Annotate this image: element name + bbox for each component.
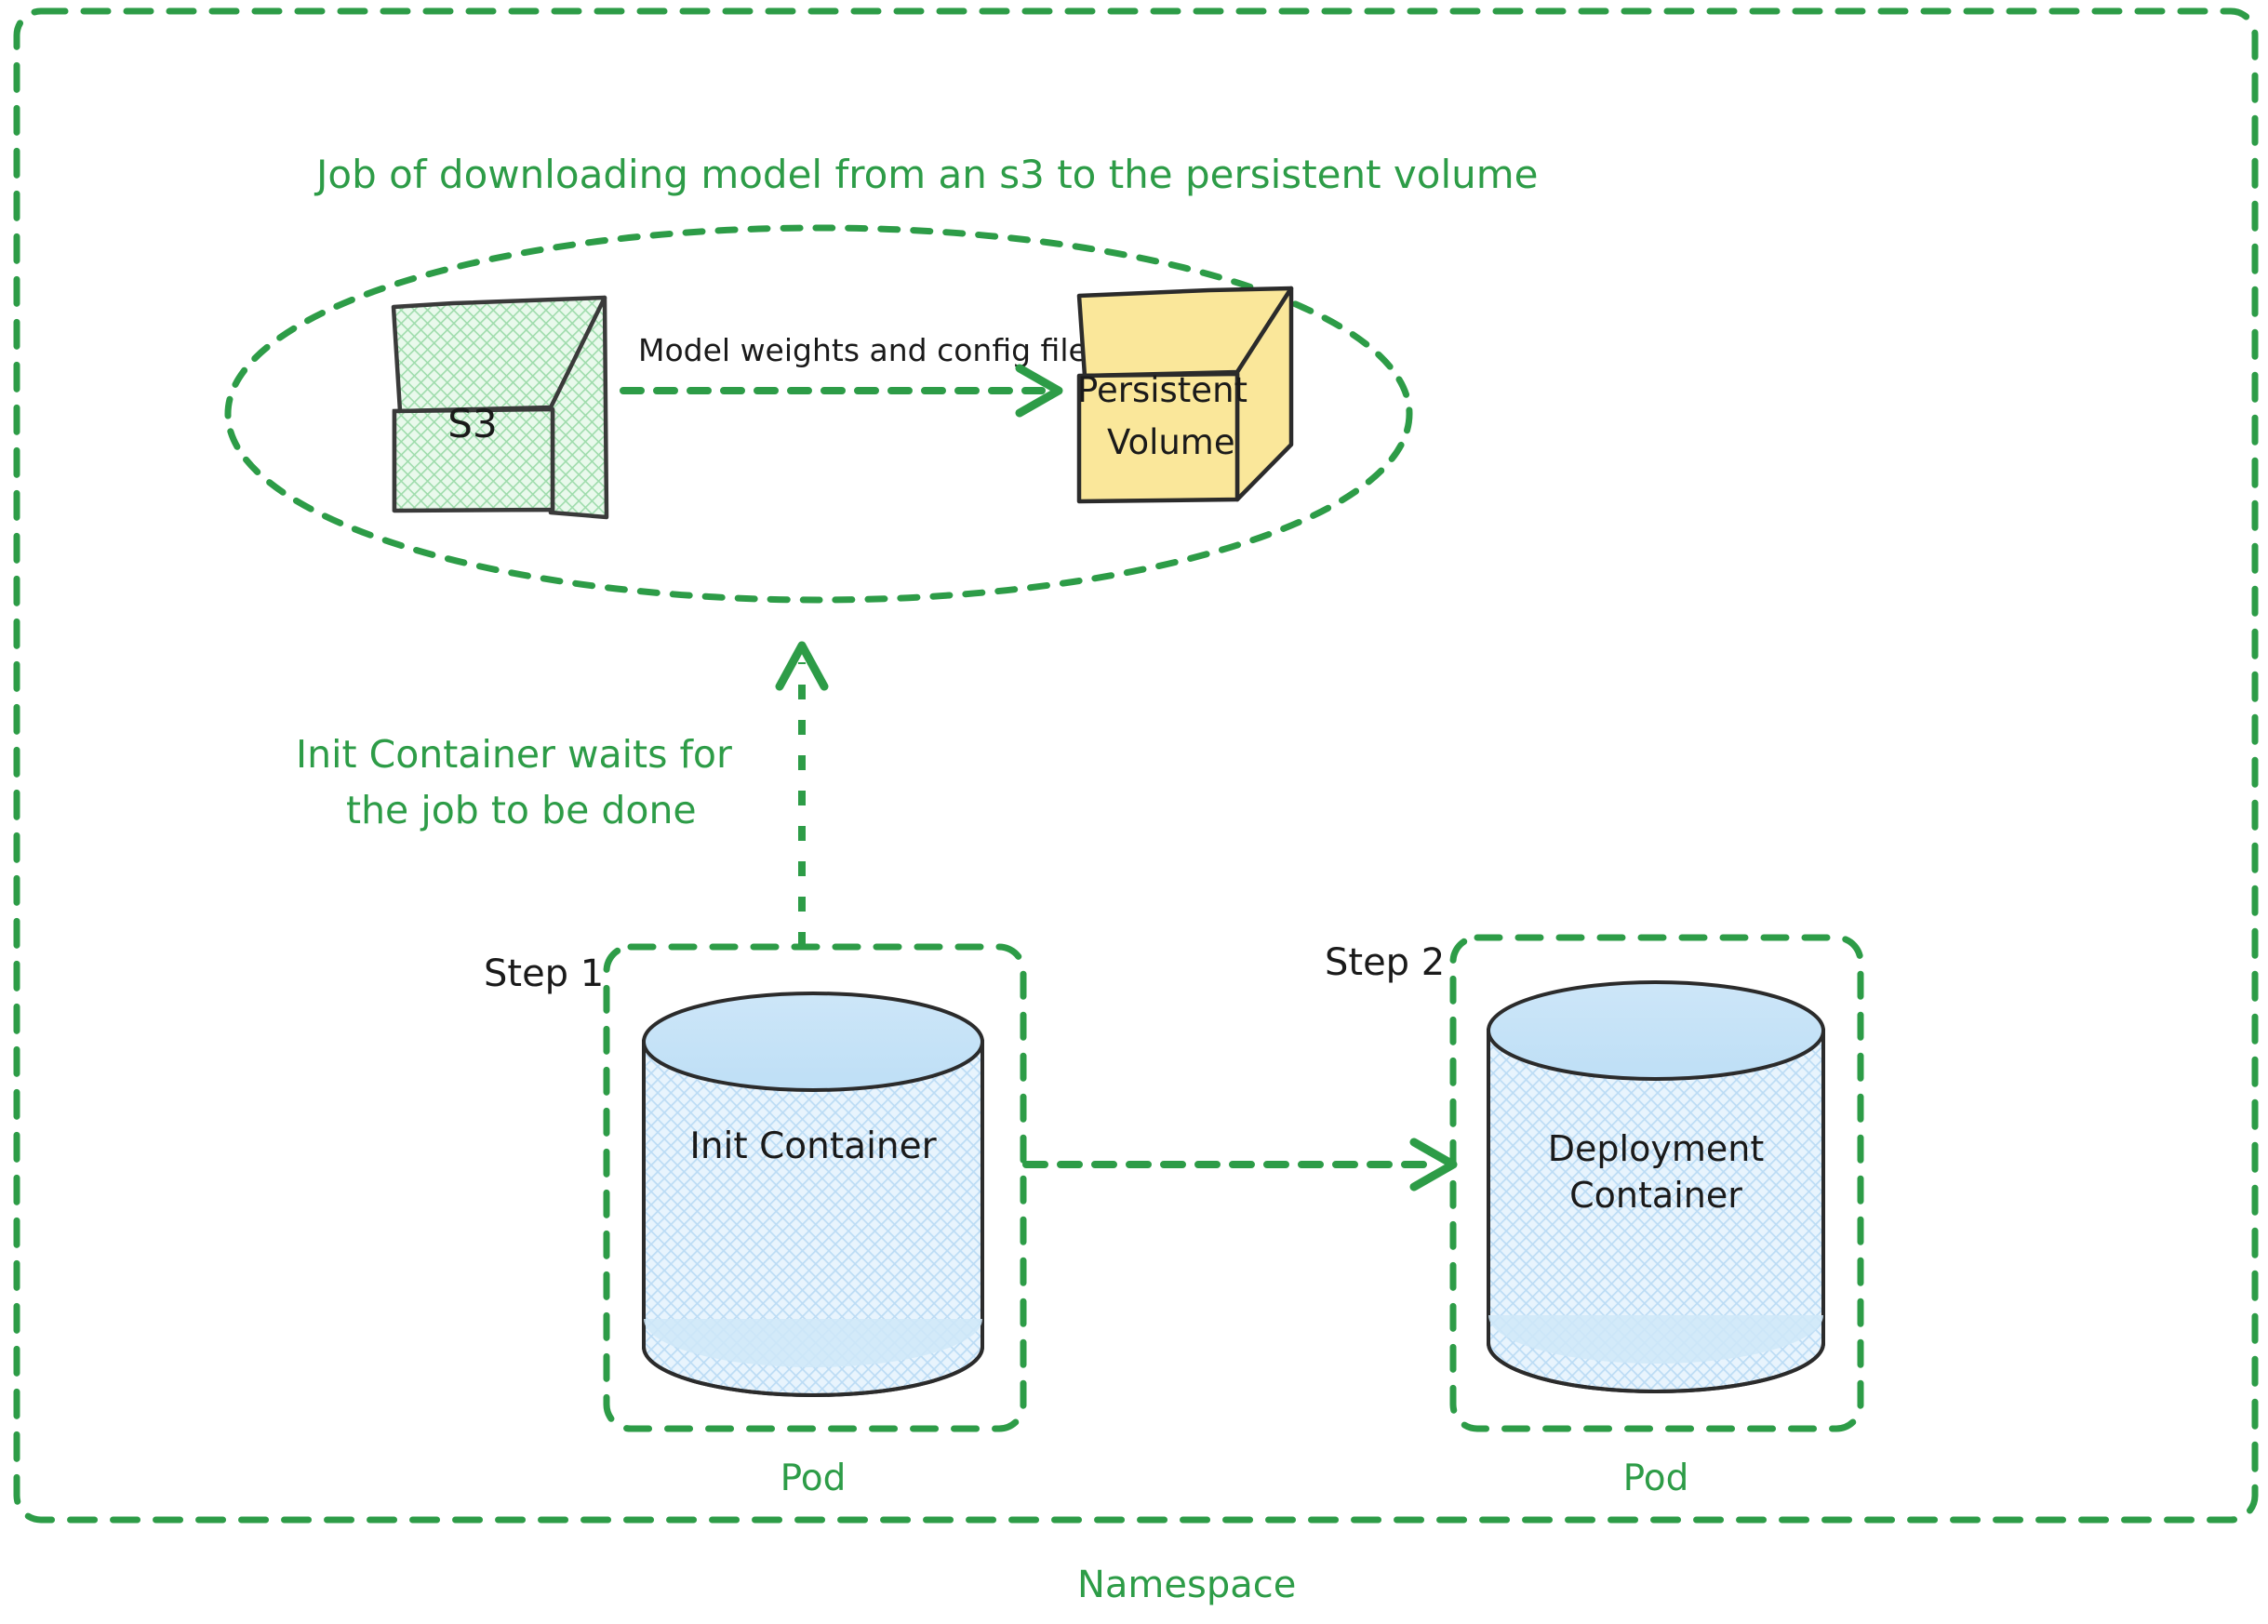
- deployment-container-top-ellipse: [1488, 982, 1823, 1079]
- pod-step-one[interactable]: Step 1 Init Container Pod: [484, 947, 1023, 1499]
- step-one-label: Step 1: [484, 952, 604, 995]
- s3-to-pv-label: Model weights and config files: [638, 332, 1103, 368]
- init-container-label: Init Container: [689, 1125, 937, 1167]
- init-to-deployment-edge: [1026, 1142, 1453, 1187]
- deployment-container-label-line1: Deployment: [1548, 1128, 1764, 1169]
- pod-left-label: Pod: [780, 1458, 847, 1499]
- s3-cube: S3: [394, 298, 607, 517]
- init-wait-label-line2: the job to be done: [346, 788, 697, 832]
- init-container-top-ellipse: [644, 993, 982, 1090]
- step-two-label: Step 2: [1325, 941, 1445, 984]
- persistent-volume-cube: Persistent Volume: [1077, 288, 1291, 501]
- init-wait-arrowhead: [780, 646, 824, 686]
- namespace-label: Namespace: [1077, 1564, 1296, 1606]
- init-wait-label-line1: Init Container waits for: [296, 732, 732, 777]
- diagram-canvas: Namespace Job of downloading model from …: [0, 0, 2268, 1624]
- pod-right-label: Pod: [1623, 1458, 1689, 1499]
- deployment-container-label-line2: Container: [1569, 1175, 1742, 1216]
- deployment-container-cylinder: Deployment Container: [1488, 982, 1823, 1391]
- pod-step-two[interactable]: Step 2 Deployment Container Pod: [1325, 938, 1861, 1499]
- architecture-diagram-svg: Namespace Job of downloading model from …: [0, 0, 2268, 1624]
- init-wait-edge: Init Container waits for the job to be d…: [296, 646, 824, 947]
- pv-label-line1: Persistent: [1077, 370, 1247, 410]
- s3-to-pv-edge: Model weights and config files: [623, 332, 1103, 413]
- s3-label: S3: [447, 401, 497, 446]
- job-title-label: Job of downloading model from an s3 to t…: [314, 152, 1539, 197]
- init-container-cylinder: Init Container: [644, 993, 982, 1395]
- pv-label-line2: Volume: [1107, 422, 1235, 462]
